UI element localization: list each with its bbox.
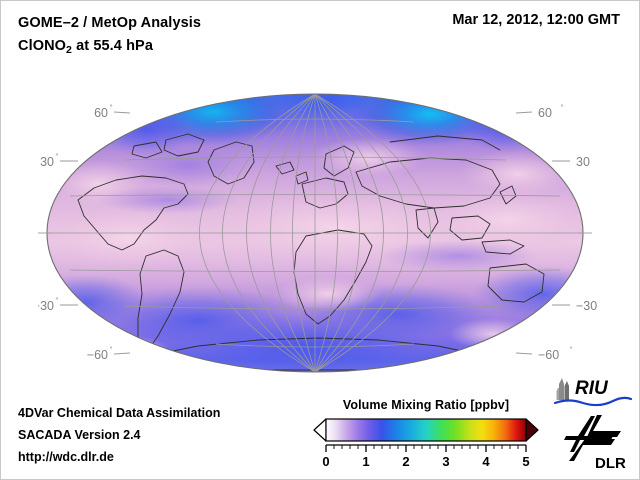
dlr-wordmark: DLR xyxy=(595,455,626,472)
colorbar-under-cap xyxy=(314,419,326,441)
page-title: GOME–2 / MetOp Analysis ClONO2 at 55.4 h… xyxy=(18,12,201,59)
footer-line-version: SACADA Version 2.4 xyxy=(18,424,220,446)
lat-degree-60n-left: ˚ xyxy=(110,104,113,113)
lat-label-30s-left: −30 xyxy=(38,299,54,313)
data-field xyxy=(38,88,598,384)
lat-label-60s-right: −60 xyxy=(538,348,559,362)
riu-tower-icon xyxy=(557,378,570,400)
lat-label-30n-left: 30 xyxy=(40,155,54,169)
species-subscript: 2 xyxy=(66,44,72,56)
title-line-species: ClONO2 at 55.4 hPa xyxy=(18,35,201,59)
lat-label-60n-right: 60 xyxy=(538,106,552,120)
title-line-instrument: GOME–2 / MetOp Analysis xyxy=(18,12,201,35)
timestamp-label: Mar 12, 2012, 12:00 GMT xyxy=(452,12,620,28)
lat-degree-60s-left: ˚ xyxy=(110,346,113,355)
footer-line-url[interactable]: http://wdc.dlr.de xyxy=(18,446,220,468)
colorbar-panel: Volume Mixing Ratio [ppbv] xyxy=(312,398,540,469)
colorbar-over-cap xyxy=(526,419,538,441)
mollweide-map: 60 ˚ 30 ˚ 0 ˚ −30 ˚ −60 ˚ 60 ˚ 30 ˚ 0 ˚ … xyxy=(38,88,598,384)
colorbar-major-ticks xyxy=(326,445,526,452)
colorbar-tick-3: 3 xyxy=(442,454,449,469)
colorbar-tick-0: 0 xyxy=(322,454,329,469)
lat-label-60n-left: 60 xyxy=(94,106,108,120)
lat-degree-30n-left: ˚ xyxy=(56,153,59,162)
colorbar-title: Volume Mixing Ratio [ppbv] xyxy=(312,398,540,412)
lat-label-30s-right: −30 xyxy=(576,299,597,313)
map-panel: 60 ˚ 30 ˚ 0 ˚ −30 ˚ −60 ˚ 60 ˚ 30 ˚ 0 ˚ … xyxy=(38,88,598,384)
riu-wordmark: RIU xyxy=(575,378,609,399)
dlr-logo: DLR xyxy=(561,414,635,472)
footer-line-method: 4DVar Chemical Data Assimilation xyxy=(18,402,220,424)
lat-degree-60n-right: ˚ xyxy=(561,104,564,113)
species-name: ClONO xyxy=(18,38,66,54)
colorbar-gradient xyxy=(326,419,526,441)
lat-label-60s-left: −60 xyxy=(87,348,108,362)
lat-degree-60s-right: ˚ xyxy=(570,346,573,355)
colorbar-tick-2: 2 xyxy=(402,454,409,469)
riu-logo: RIU xyxy=(553,374,633,408)
lat-degree-30s-left: ˚ xyxy=(56,297,59,306)
colorbar-minor-ticks xyxy=(334,445,518,449)
lat-label-30n-right: 30 xyxy=(576,155,590,169)
footer-info: 4DVar Chemical Data Assimilation SACADA … xyxy=(18,402,220,468)
colorbar-tick-labels: 0 1 2 3 4 5 xyxy=(322,454,529,469)
colorbar: 0 1 2 3 4 5 xyxy=(312,417,540,469)
colorbar-tick-5: 5 xyxy=(522,454,529,469)
colorbar-tick-1: 1 xyxy=(362,454,369,469)
colorbar-tick-4: 4 xyxy=(482,454,490,469)
pressure-level: at 55.4 hPa xyxy=(72,38,153,54)
